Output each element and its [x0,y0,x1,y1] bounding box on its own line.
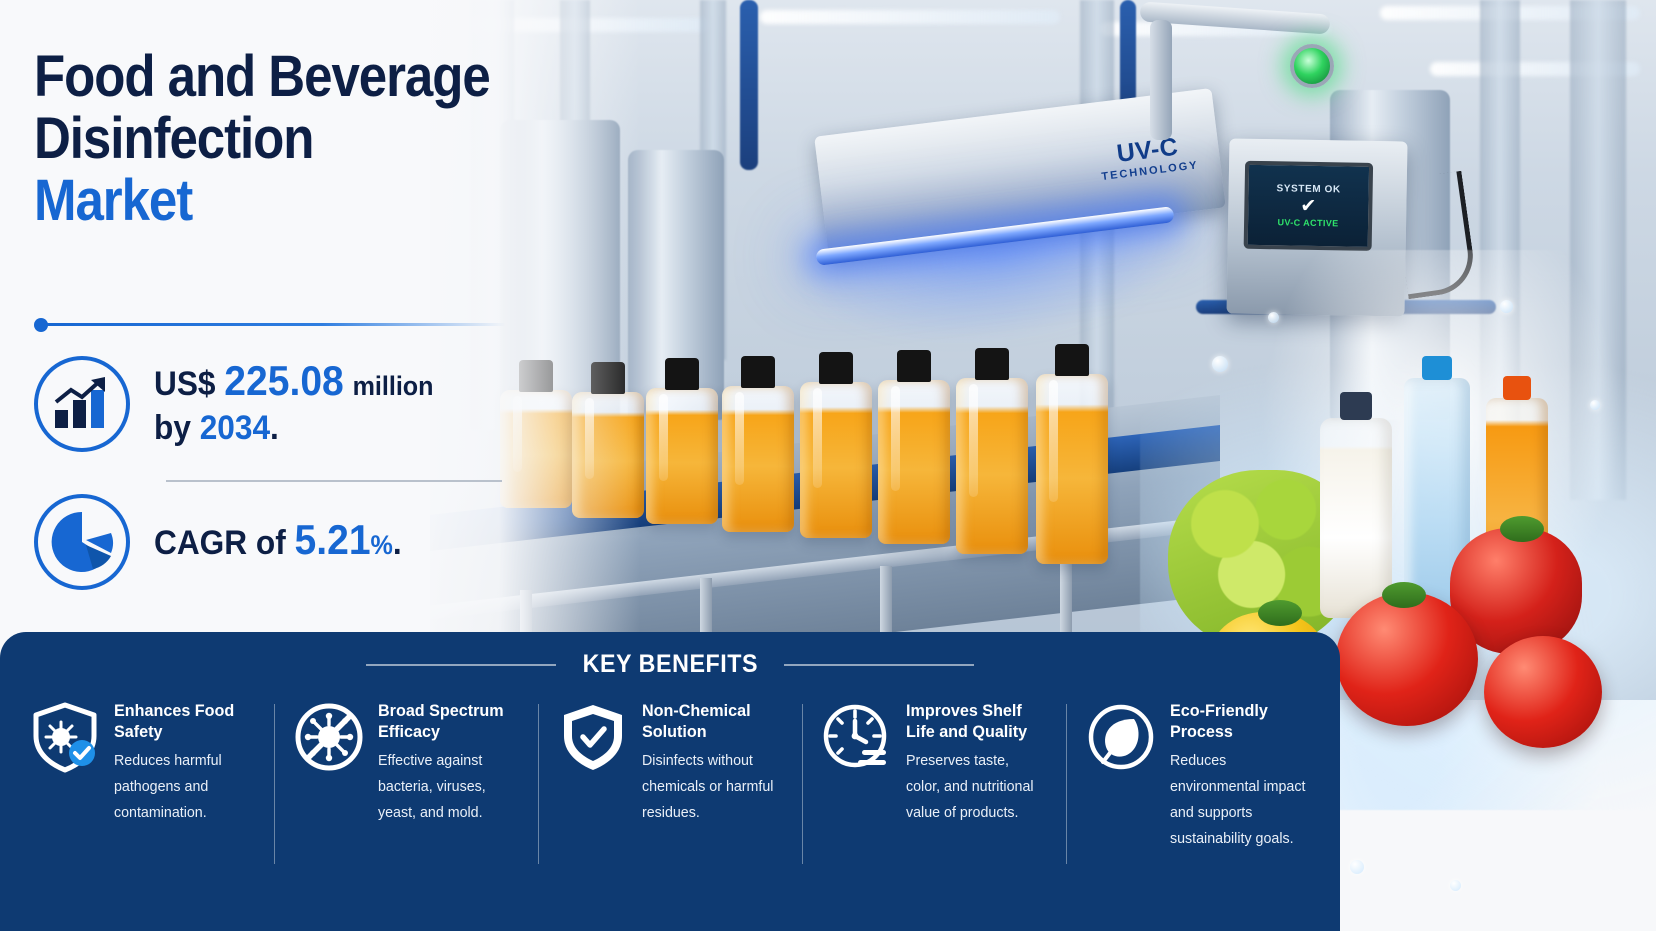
stat-line-2: by 2034. [154,407,433,449]
tomato-stem [1382,582,1426,608]
juice-bottle [878,380,950,544]
title-line-2: Disinfection [34,108,606,170]
bar-chart-growth-icon [34,356,130,452]
market-size-value: 225.08 [224,357,343,404]
water-droplet [1590,400,1600,410]
milk-bottle [1320,418,1392,618]
benefit-item-non-chemical-solution[interactable]: Non-Chemical Solution Disinfects without… [538,698,802,826]
shield-check-icon [556,700,630,774]
benefit-text: Broad Spectrum Efficacy Effective agains… [378,698,524,826]
no-virus-icon [292,700,366,774]
blue-pipe [740,0,758,170]
benefit-description: Reduces environmental impact and support… [1170,748,1309,852]
uvc-machine-label: UV-C TECHNOLOGY [1098,132,1200,183]
water-droplet [1450,880,1461,891]
benefit-text: Enhances Food Safety Reduces harmful pat… [114,698,260,826]
title-line-1: Food and Beverage [34,46,606,108]
benefit-text: Eco-Friendly Process Reduces environment… [1170,698,1316,852]
forecast-year: 2034 [200,409,270,447]
stat-market-size: US$ 225.08 million by 2034. [34,356,455,452]
pie-chart-glyph [49,509,115,575]
pie-chart-icon [34,494,130,590]
heading-rule-left [366,664,556,666]
water-droplet [1212,356,1228,372]
display-check-icon: ✔ [1300,198,1316,215]
stat-divider [166,480,502,482]
benefit-description: Reduces harmful pathogens and contaminat… [114,748,253,826]
benefit-item-eco-friendly-process[interactable]: Eco-Friendly Process Reduces environment… [1066,698,1330,852]
benefit-item-enhances-food-safety[interactable]: Enhances Food Safety Reduces harmful pat… [10,698,274,826]
control-display: SYSTEM OK ✔ UV-C ACTIVE [1244,161,1374,251]
key-benefits-panel: KEY BENEFITS [0,632,1340,931]
shield-virus-check-icon [28,700,102,774]
juice-bottle [800,382,872,538]
status-lamp-green [1290,44,1334,88]
stat-line-1: US$ 225.08 million [154,360,433,407]
benefit-title: Eco-Friendly Process [1170,700,1309,742]
display-mode-text: UV-C ACTIVE [1277,217,1338,228]
clock-icon [820,700,894,774]
pepper-stem [1258,600,1302,626]
title-line-3: Market [34,170,606,232]
benefit-item-broad-spectrum-efficacy[interactable]: Broad Spectrum Efficacy Effective agains… [274,698,538,826]
ceiling-light [760,10,1060,24]
benefit-title: Improves Shelf Life and Quality [906,700,1045,742]
water-droplet [1268,312,1279,323]
pepper-stem [1500,516,1544,542]
water-droplet [1500,300,1513,313]
benefit-title: Broad Spectrum Efficacy [378,700,517,742]
benefit-description: Disinfects without chemicals or harmful … [642,748,781,826]
benefit-item-improves-shelf-life[interactable]: Improves Shelf Life and Quality Preserve… [802,698,1066,826]
benefit-title: Enhances Food Safety [114,700,253,742]
leaf-icon [1084,700,1158,774]
market-size-unit: million [353,371,434,401]
infographic-canvas: UV-C TECHNOLOGY SYSTEM OK ✔ UV-C ACTIVE [0,0,1656,931]
bar-chart-growth-glyph [51,376,113,432]
benefit-description: Preserves taste, color, and nutritional … [906,748,1045,826]
benefit-text: Improves Shelf Life and Quality Preserve… [906,698,1052,826]
juice-bottle [1036,374,1108,564]
juice-bottle [956,378,1028,554]
currency-prefix: US$ [154,365,216,403]
stat-cagr: CAGR of 5.21%. [34,494,420,590]
tomato [1484,636,1602,748]
water-droplet [1350,860,1364,874]
benefit-text: Non-Chemical Solution Disinfects without… [642,698,788,826]
juice-bottle [646,388,718,524]
vertical-pipe [1150,20,1172,140]
benefit-description: Effective against bacteria, viruses, yea… [378,748,517,826]
panel-heading-row: KEY BENEFITS [0,650,1340,679]
cagr-label: CAGR of [154,524,286,562]
key-benefits-heading: KEY BENEFITS [582,650,758,679]
divider-line [46,323,506,326]
tomato [1336,592,1478,726]
forecast-year-prefix: by [154,409,191,447]
heading-rule-right [784,664,974,666]
stat-cagr-text: CAGR of 5.21%. [154,519,402,566]
stat-market-size-text: US$ 225.08 million by 2034. [154,360,433,449]
benefit-title: Non-Chemical Solution [642,700,781,742]
display-status-text: SYSTEM OK [1276,183,1340,195]
juice-bottle [722,386,794,532]
benefits-list: Enhances Food Safety Reduces harmful pat… [10,698,1330,852]
page-title: Food and Beverage Disinfection Market [34,46,606,232]
cagr-value: 5.21 [295,516,371,563]
forecast-period: . [270,409,279,447]
cagr-unit: % [371,530,393,560]
cagr-period: . [393,524,402,562]
